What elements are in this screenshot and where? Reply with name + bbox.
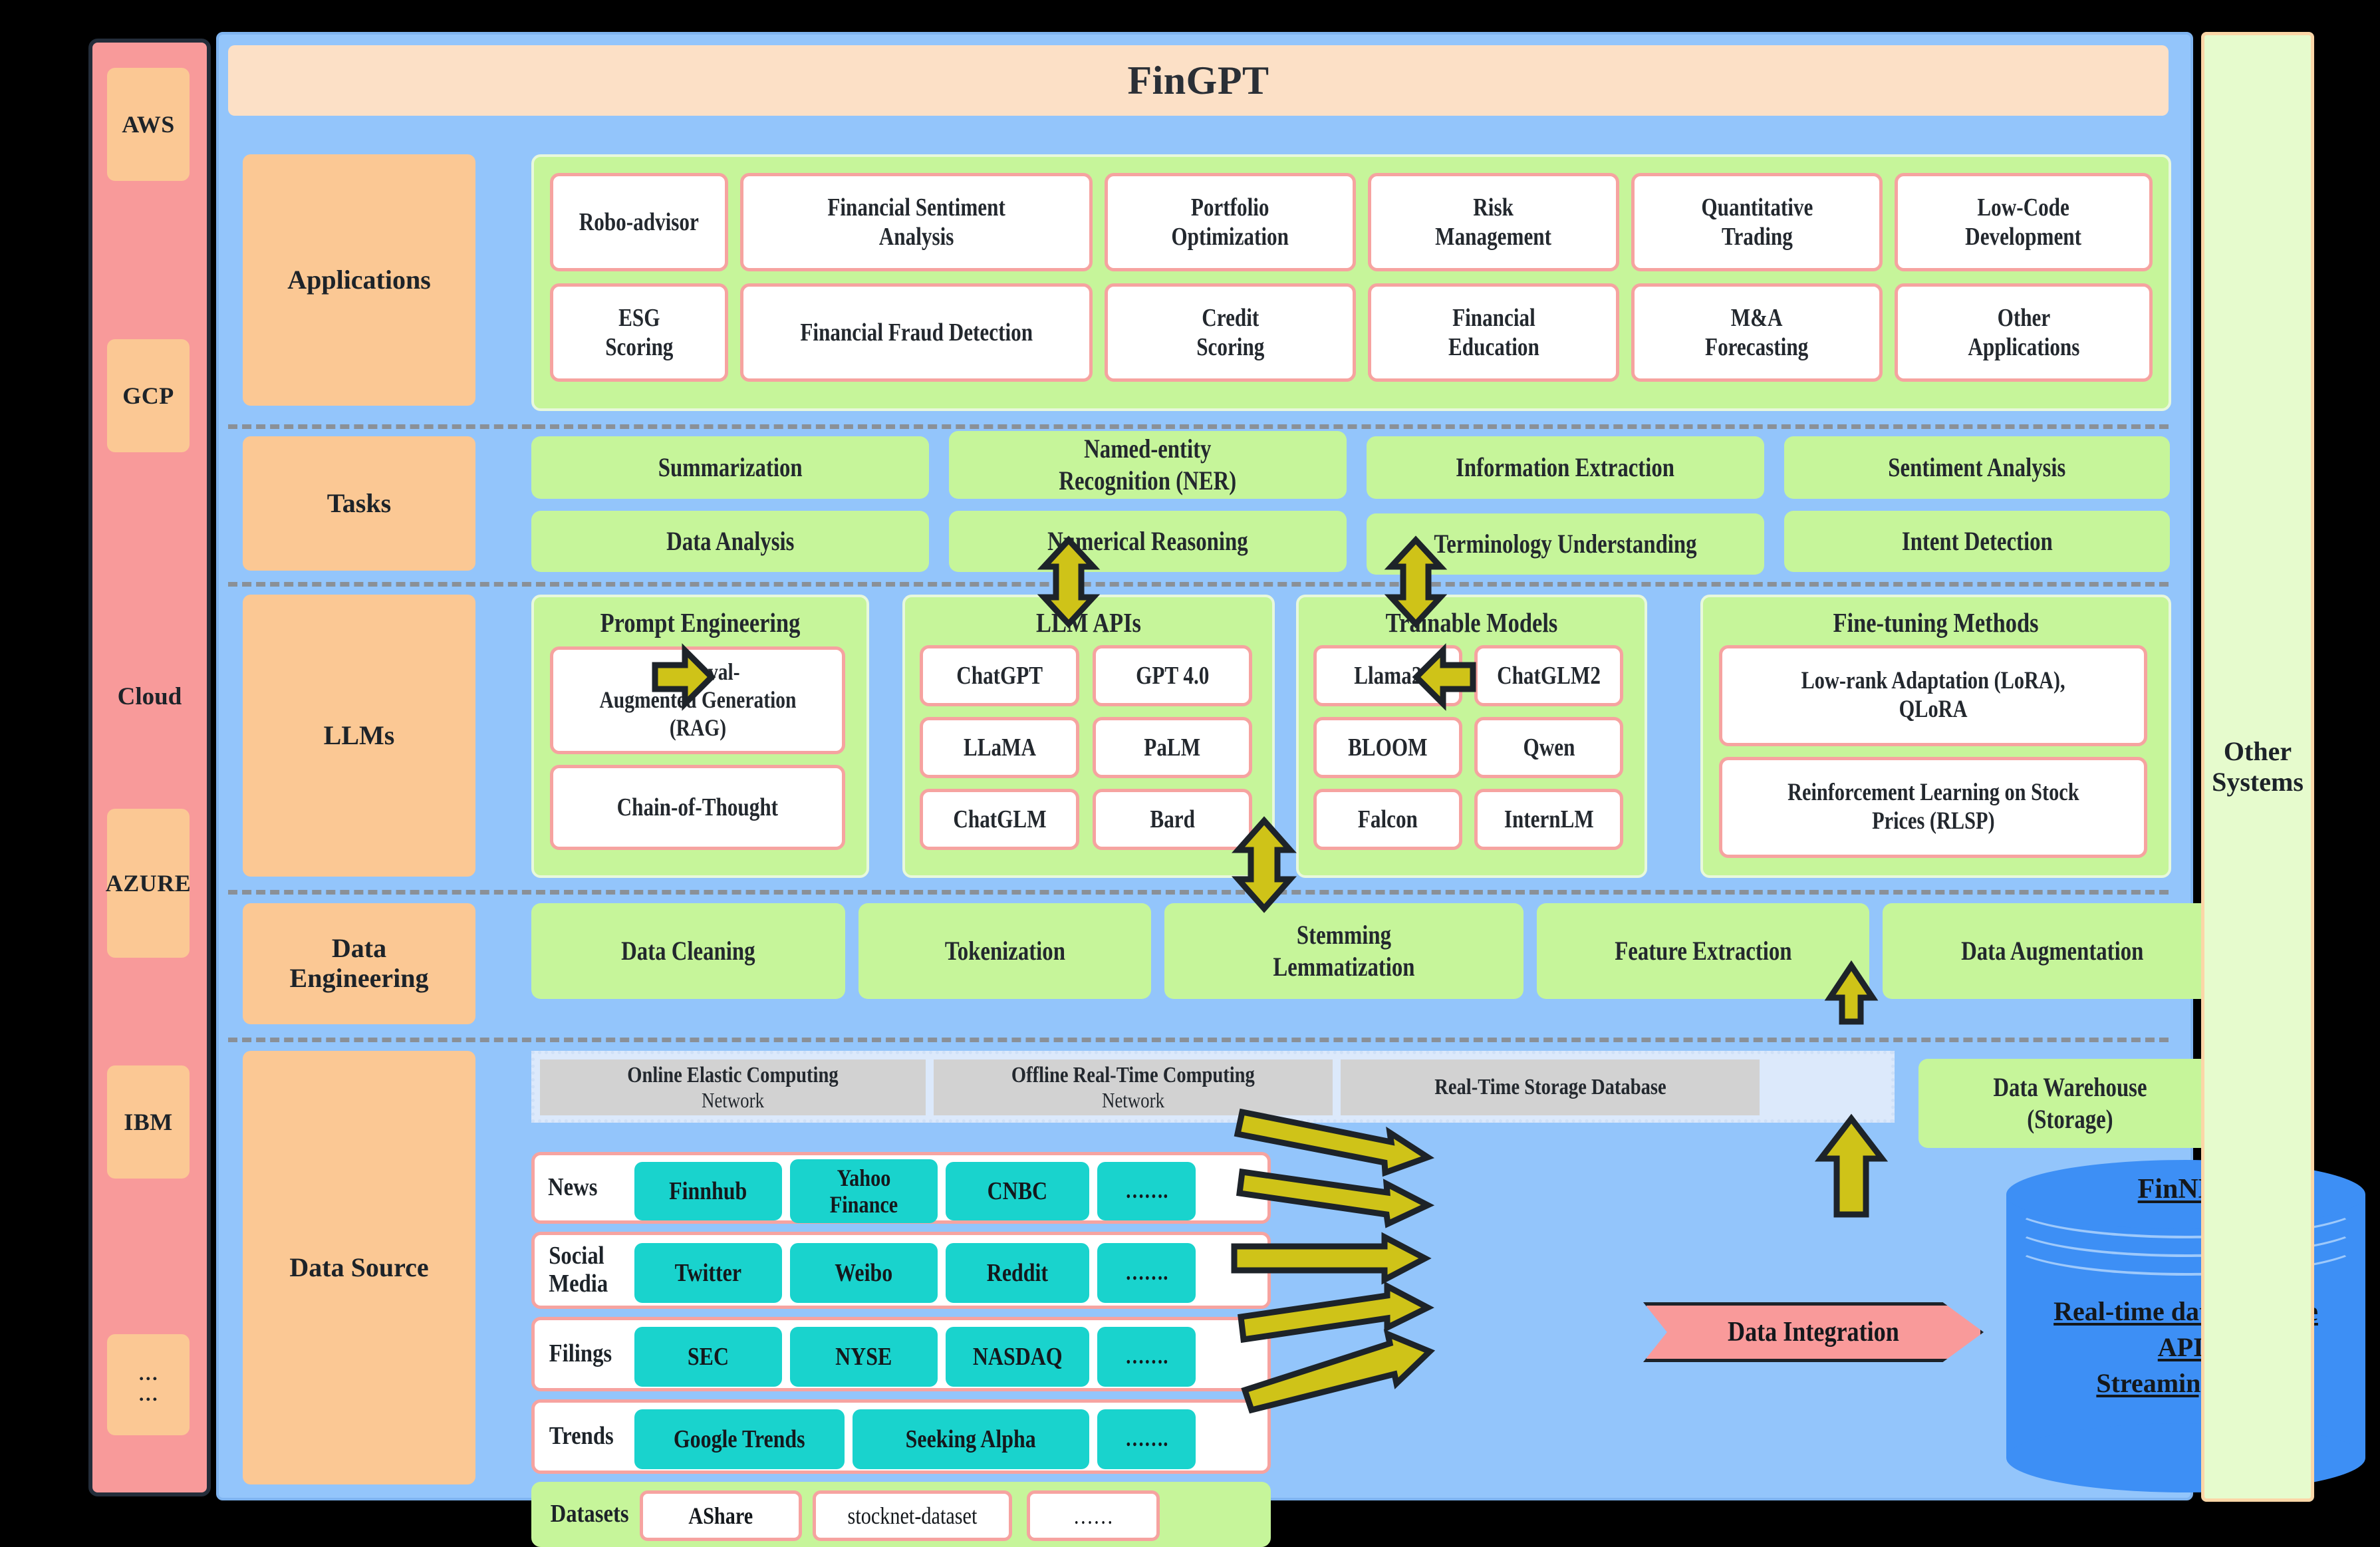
dataset-item-label: …… xyxy=(1073,1502,1113,1530)
divider-llms-dataeng xyxy=(228,890,2169,895)
data-source-item-label: Reddit xyxy=(987,1259,1048,1288)
llm-api-label: ChatGLM xyxy=(953,805,1046,834)
data-source-item[interactable]: Weibo xyxy=(790,1243,938,1303)
data-source-row-label-wrap: Filings xyxy=(544,1320,630,1388)
llm-api-label: Bard xyxy=(1150,805,1195,834)
other-systems-label: Other Systems xyxy=(2212,736,2304,797)
application-label: Portfolio Optimization xyxy=(1172,193,1289,251)
cloud-provider-label: AWS xyxy=(122,112,175,137)
trainable-model-tile[interactable]: InternLM xyxy=(1474,789,1623,850)
prompt-method-tile[interactable]: Retrieval- Augmented Generation (RAG) xyxy=(550,646,845,754)
data-engineering-tile[interactable]: Feature Extraction xyxy=(1537,903,1869,999)
data-source-row-social-media: Social Media Twitter Weibo Reddit ……. xyxy=(531,1232,1271,1309)
data-source-item-more[interactable]: ……. xyxy=(1097,1327,1196,1387)
data-source-item-more[interactable]: ……. xyxy=(1097,1162,1196,1220)
data-source-item[interactable]: Seeking Alpha xyxy=(853,1409,1089,1469)
fine-tuning-group: Fine-tuning Methods Low-rank Adaptation … xyxy=(1700,595,2171,878)
data-source-row-filings: Filings SEC NYSE NASDAQ ……. xyxy=(531,1317,1271,1391)
task-tile[interactable]: Terminology Understanding xyxy=(1367,513,1764,575)
data-source-item-label: SEC xyxy=(688,1343,729,1371)
task-tile[interactable]: Numerical Reasoning xyxy=(949,511,1347,572)
divider-dataeng-datasource xyxy=(228,1038,2169,1042)
data-source-item-label: ……. xyxy=(1125,1427,1168,1452)
data-source-item[interactable]: Reddit xyxy=(946,1243,1089,1303)
group-title: Trainable Models xyxy=(1327,607,1617,638)
llm-api-label: LLaMA xyxy=(963,733,1035,762)
fine-tuning-tile[interactable]: Reinforcement Learning on Stock Prices (… xyxy=(1719,757,2147,858)
cloud-provider-aws[interactable]: AWS xyxy=(107,68,190,181)
data-source-item[interactable]: Twitter xyxy=(634,1243,782,1303)
application-label: Quantitative Trading xyxy=(1701,193,1813,251)
row-label-text: LLMs xyxy=(324,721,395,751)
fine-tuning-tile[interactable]: Low-rank Adaptation (LoRA), QLoRA xyxy=(1719,645,2147,746)
data-engineering-label: Stemming Lemmatization xyxy=(1273,919,1414,983)
application-label: Financial Sentiment Analysis xyxy=(827,193,1005,251)
llm-api-label: ChatGPT xyxy=(956,661,1043,690)
dataset-item[interactable]: stocknet-dataset xyxy=(813,1490,1012,1541)
dataset-item[interactable]: AShare xyxy=(640,1490,802,1541)
data-warehouse-label: Data Warehouse (Storage) xyxy=(1993,1071,2147,1135)
task-label: Information Extraction xyxy=(1456,452,1675,484)
data-source-row-label-wrap: Trends xyxy=(544,1403,630,1471)
data-source-row-label-wrap: News xyxy=(544,1155,624,1220)
trainable-model-tile[interactable]: Llama2 xyxy=(1313,645,1462,706)
llm-api-label: GPT 4.0 xyxy=(1136,661,1209,690)
row-label-data-engineering[interactable]: Data Engineering xyxy=(243,903,475,1024)
task-label: Data Analysis xyxy=(666,525,794,557)
data-integration-banner[interactable]: Data Integration xyxy=(1643,1302,1984,1362)
task-label: Numerical Reasoning xyxy=(1047,525,1248,557)
application-tile[interactable]: Other Applications xyxy=(1895,283,2153,382)
application-tile[interactable]: ESG Scoring xyxy=(550,283,728,382)
data-engineering-label: Feature Extraction xyxy=(1615,935,1791,967)
data-engineering-tile[interactable]: Data Augmentation xyxy=(1883,903,2222,999)
data-source-item-more[interactable]: ……. xyxy=(1097,1243,1196,1303)
application-label: Other Applications xyxy=(1968,303,2079,362)
row-label-text: Data Source xyxy=(289,1253,428,1283)
divider-tasks-llms xyxy=(228,582,2169,587)
data-source-item[interactable]: NASDAQ xyxy=(946,1327,1089,1387)
task-tile[interactable]: Sentiment Analysis xyxy=(1784,436,2170,499)
cloud-provider-ibm[interactable]: IBM xyxy=(107,1065,190,1179)
data-warehouse-tile[interactable]: Data Warehouse (Storage) xyxy=(1918,1059,2222,1148)
trainable-model-label: Falcon xyxy=(1358,805,1418,834)
infrastructure-line1: Online Elastic Computing xyxy=(627,1063,838,1088)
trainable-model-label: Qwen xyxy=(1523,733,1575,762)
infrastructure-tile[interactable]: Offline Real-Time Computing Network xyxy=(934,1059,1333,1115)
data-source-item-more[interactable]: ……. xyxy=(1097,1409,1196,1469)
task-tile[interactable]: Named-entity Recognition (NER) xyxy=(949,431,1347,499)
data-source-row-datasets: Datasets AShare stocknet-dataset …… xyxy=(531,1482,1271,1547)
cloud-provider-gcp[interactable]: GCP xyxy=(107,339,190,452)
page-title-text: FinGPT xyxy=(1127,58,1269,104)
application-tile[interactable]: Quantitative Trading xyxy=(1631,173,1883,271)
infrastructure-bar: Online Elastic Computing Network Offline… xyxy=(531,1051,1895,1123)
application-tile[interactable]: Financial Education xyxy=(1368,283,1619,382)
data-source-item-label: ……. xyxy=(1125,1179,1168,1204)
data-source-row-news: News Finnhub Yahoo Finance CNBC ……. xyxy=(531,1152,1271,1224)
infrastructure-line1: Offline Real-Time Computing xyxy=(1011,1063,1255,1088)
data-source-item-label: ……. xyxy=(1125,1260,1168,1286)
group-title: LLM APIs xyxy=(934,607,1243,638)
row-label-text: Applications xyxy=(287,265,431,295)
task-label: Sentiment Analysis xyxy=(1888,452,2065,484)
llm-apis-group: LLM APIs ChatGPT GPT 4.0 LLaMA PaLM Chat… xyxy=(902,595,1275,878)
llm-api-label: PaLM xyxy=(1144,733,1201,762)
row-label-applications[interactable]: Applications xyxy=(243,154,475,406)
llm-api-tile[interactable]: Bard xyxy=(1093,789,1252,850)
task-tile[interactable]: Data Analysis xyxy=(531,511,929,572)
llm-api-tile[interactable]: LLaMA xyxy=(920,717,1079,778)
dataset-item-label: AShare xyxy=(689,1502,753,1530)
infrastructure-line2: Network xyxy=(702,1088,764,1113)
fine-tuning-label: Reinforcement Learning on Stock Prices (… xyxy=(1787,779,2079,836)
data-source-item-label: NYSE xyxy=(835,1343,892,1371)
task-tile[interactable]: Summarization xyxy=(531,436,929,499)
fine-tuning-label: Low-rank Adaptation (LoRA), QLoRA xyxy=(1801,667,2065,724)
application-label: Low-Code Development xyxy=(1966,193,2082,251)
task-label: Named-entity Recognition (NER) xyxy=(1059,433,1237,497)
trainable-model-label: BLOOM xyxy=(1348,733,1427,762)
row-label-data-source[interactable]: Data Source xyxy=(243,1051,475,1484)
application-label: M&A Forecasting xyxy=(1705,303,1808,362)
row-label-llms[interactable]: LLMs xyxy=(243,595,475,877)
application-label: Robo-advisor xyxy=(579,208,699,237)
diagram-canvas: AWS GCP Cloud AZURE IBM … … FinGPT Appli… xyxy=(0,0,2380,1527)
data-engineering-label: Data Cleaning xyxy=(621,935,755,967)
application-label: ESG Scoring xyxy=(605,303,673,362)
llm-api-tile[interactable]: ChatGLM xyxy=(920,789,1079,850)
cloud-provider-azure[interactable]: AZURE xyxy=(107,809,190,958)
infrastructure-line1: Real-Time Storage Database xyxy=(1434,1075,1666,1100)
application-label: Financial Fraud Detection xyxy=(800,318,1033,347)
data-engineering-tile[interactable]: Data Cleaning xyxy=(531,903,845,999)
data-engineering-tile[interactable]: Stemming Lemmatization xyxy=(1164,903,1523,999)
data-source-item-label: Seeking Alpha xyxy=(906,1425,1036,1454)
trainable-model-tile[interactable]: BLOOM xyxy=(1313,717,1462,778)
cloud-provider-label: GCP xyxy=(122,384,174,408)
cloud-provider-label: IBM xyxy=(124,1110,173,1135)
data-source-item-label: ……. xyxy=(1125,1344,1168,1369)
trainable-models-group: Trainable Models Llama2 ChatGLM2 BLOOM Q… xyxy=(1296,595,1647,878)
data-source-row-label: News xyxy=(548,1174,597,1202)
prompt-method-tile[interactable]: Chain-of-Thought xyxy=(550,765,845,850)
llm-api-tile[interactable]: ChatGPT xyxy=(920,645,1079,706)
cloud-provider-label: AZURE xyxy=(106,871,192,896)
data-source-item[interactable]: Google Trends xyxy=(634,1409,845,1469)
data-source-item[interactable]: Finnhub xyxy=(634,1162,782,1220)
trainable-model-tile[interactable]: ChatGLM2 xyxy=(1474,645,1623,706)
application-tile[interactable]: M&A Forecasting xyxy=(1631,283,1883,382)
data-engineering-label: Data Augmentation xyxy=(1961,935,2143,967)
data-source-row-label: Social Media xyxy=(549,1242,608,1298)
task-label: Terminology Understanding xyxy=(1434,528,1696,560)
application-tile[interactable]: Portfolio Optimization xyxy=(1105,173,1356,271)
infrastructure-tile[interactable]: Real-Time Storage Database xyxy=(1341,1059,1760,1115)
other-systems-column[interactable]: Other Systems xyxy=(2201,32,2314,1502)
data-source-row-label: Datasets xyxy=(551,1500,629,1528)
llm-api-tile[interactable]: GPT 4.0 xyxy=(1093,645,1252,706)
data-source-item[interactable]: NYSE xyxy=(790,1327,938,1387)
application-label: Credit Scoring xyxy=(1196,303,1264,362)
data-source-item-label: Google Trends xyxy=(674,1425,805,1454)
llm-api-tile[interactable]: PaLM xyxy=(1093,717,1252,778)
data-engineering-tile[interactable]: Tokenization xyxy=(859,903,1151,999)
data-source-row-label: Filings xyxy=(549,1340,612,1368)
application-tile[interactable]: Credit Scoring xyxy=(1105,283,1356,382)
application-tile[interactable]: Risk Management xyxy=(1368,173,1619,271)
data-source-row-label: Trends xyxy=(549,1423,614,1451)
divider-applications-tasks xyxy=(228,424,2169,429)
data-source-row-label-wrap: Datasets xyxy=(544,1485,637,1544)
cloud-provider-more[interactable]: … … xyxy=(107,1334,190,1435)
row-label-tasks[interactable]: Tasks xyxy=(243,436,475,571)
dataset-item-label: stocknet-dataset xyxy=(848,1502,978,1530)
data-source-item-label: Weibo xyxy=(835,1259,893,1288)
data-engineering-label: Tokenization xyxy=(944,935,1065,967)
data-source-item-label: NASDAQ xyxy=(973,1343,1063,1371)
page-title: FinGPT xyxy=(228,45,2169,116)
group-title: Fine-tuning Methods xyxy=(1740,607,2131,638)
task-tile[interactable]: Information Extraction xyxy=(1367,436,1764,499)
prompt-method-label: Chain-of-Thought xyxy=(617,793,778,822)
prompt-method-label: Retrieval- Augmented Generation (RAG) xyxy=(599,658,796,742)
data-source-item-label: CNBC xyxy=(988,1177,1047,1206)
group-title: Prompt Engineering xyxy=(561,607,840,638)
prompt-engineering-group: Prompt Engineering Retrieval- Augmented … xyxy=(531,595,869,878)
data-source-item-label: Yahoo Finance xyxy=(830,1165,898,1218)
task-label: Intent Detection xyxy=(1902,525,2053,557)
cloud-provider-label: … … xyxy=(138,1364,159,1405)
data-source-item[interactable]: CNBC xyxy=(946,1162,1089,1220)
trainable-model-label: Llama2 xyxy=(1354,661,1422,690)
applications-group: Robo-advisor Financial Sentiment Analysi… xyxy=(531,154,2171,411)
data-source-item-label: Finnhub xyxy=(669,1177,747,1206)
row-label-text: Data Engineering xyxy=(290,934,429,994)
row-label-text: Tasks xyxy=(327,489,391,519)
data-source-item-label: Twitter xyxy=(675,1259,741,1288)
trainable-model-tile[interactable]: Qwen xyxy=(1474,717,1623,778)
infrastructure-tile[interactable]: Online Elastic Computing Network xyxy=(540,1059,926,1115)
cloud-column: AWS GCP Cloud AZURE IBM … … xyxy=(88,39,211,1496)
trainable-model-tile[interactable]: Falcon xyxy=(1313,789,1462,850)
application-tile[interactable]: Financial Sentiment Analysis xyxy=(740,173,1093,271)
task-label: Summarization xyxy=(658,452,803,484)
trainable-model-label: InternLM xyxy=(1504,805,1593,834)
cloud-section-label: Cloud xyxy=(92,682,207,711)
application-tile[interactable]: Financial Fraud Detection xyxy=(740,283,1093,382)
task-tile[interactable]: Intent Detection xyxy=(1784,511,2170,572)
fingpt-framework-panel: FinGPT Applications Tasks LLMs Data Engi… xyxy=(216,32,2193,1500)
application-tile[interactable]: Low-Code Development xyxy=(1895,173,2153,271)
application-label: Risk Management xyxy=(1436,193,1552,251)
application-label: Financial Education xyxy=(1448,303,1539,362)
dataset-item-more[interactable]: …… xyxy=(1027,1490,1160,1541)
trainable-model-label: ChatGLM2 xyxy=(1497,661,1601,690)
data-source-item[interactable]: Yahoo Finance xyxy=(790,1159,938,1223)
data-source-row-trends: Trends Google Trends Seeking Alpha ……. xyxy=(531,1399,1271,1474)
data-source-row-label-wrap: Social Media xyxy=(544,1235,630,1306)
data-source-item[interactable]: SEC xyxy=(634,1327,782,1387)
infrastructure-line2: Network xyxy=(1102,1088,1164,1113)
data-integration-label: Data Integration xyxy=(1728,1316,1899,1348)
application-tile[interactable]: Robo-advisor xyxy=(550,173,728,271)
